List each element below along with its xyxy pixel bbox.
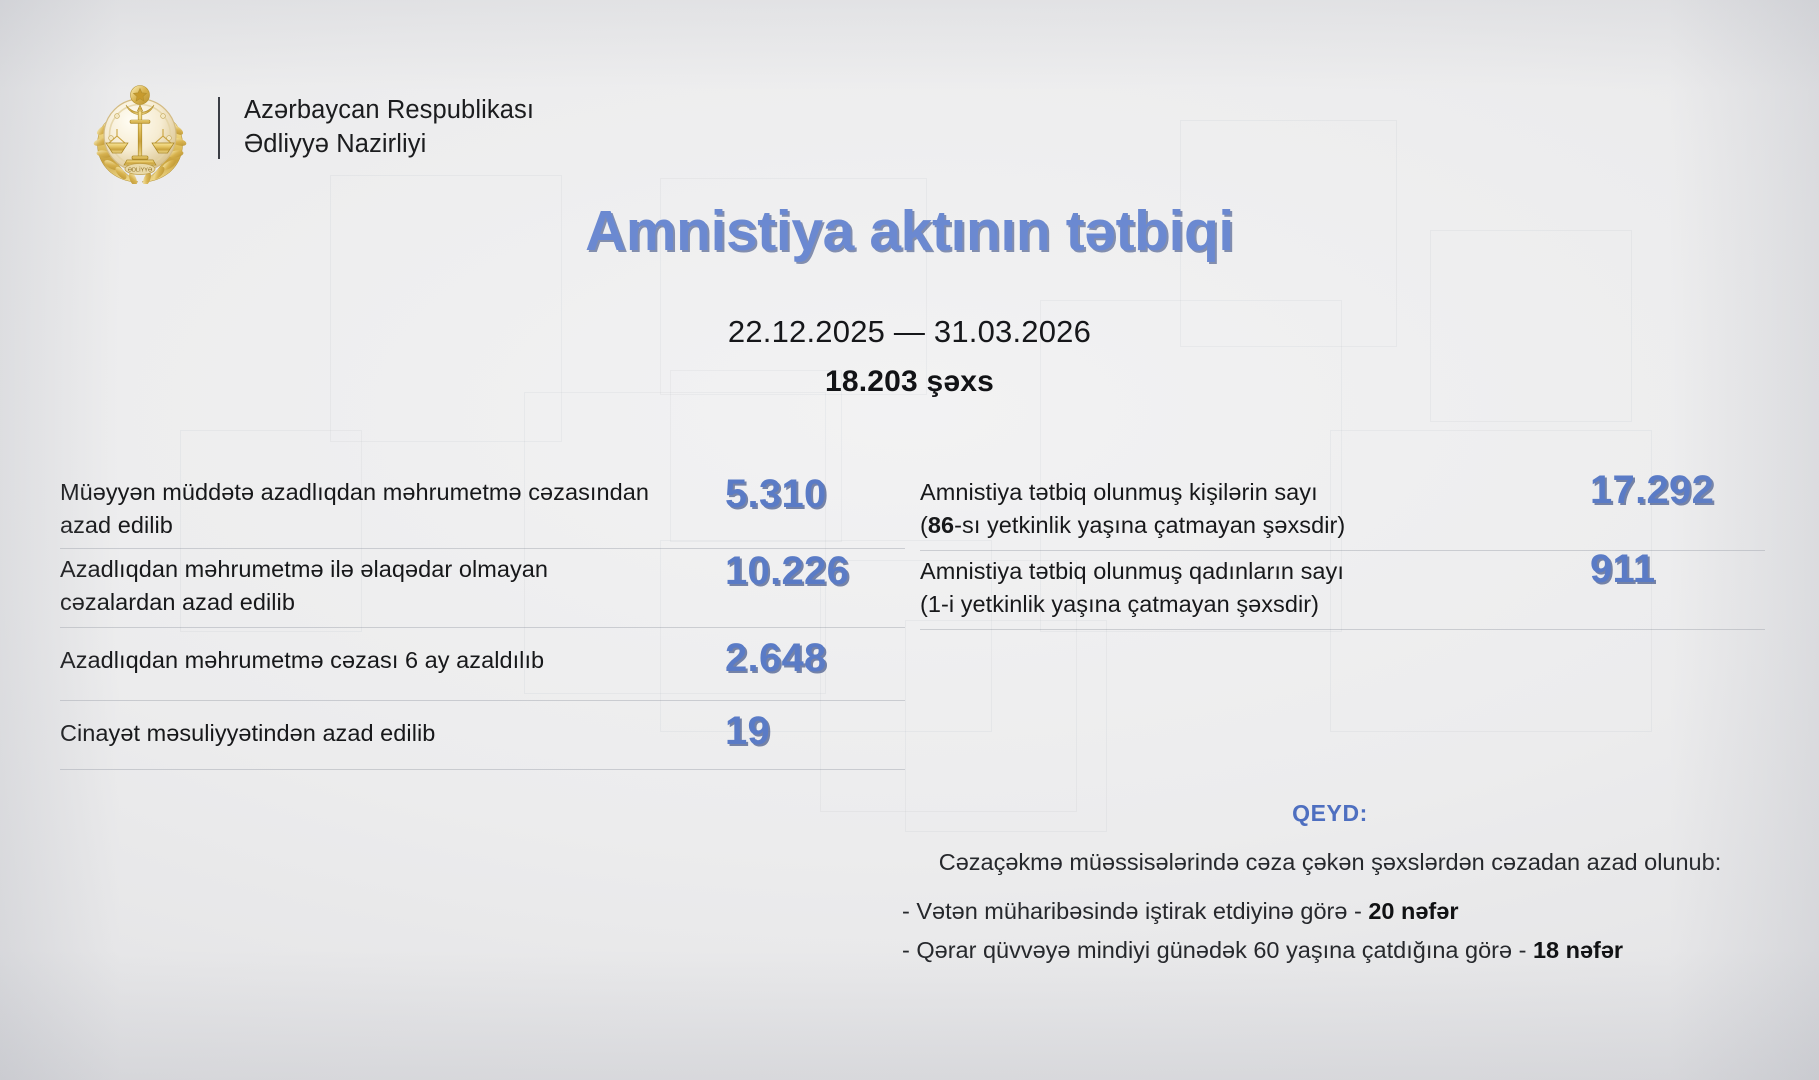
svg-text:ƏDLİYYƏ: ƏDLİYYƏ <box>128 167 152 174</box>
organization-name: Azərbaycan Respublikası Ədliyyə Nazirliy… <box>244 94 534 162</box>
note-line-text: - Vətən müharibəsində iştirak etdiyinə g… <box>902 898 1368 924</box>
table-row: Azadlıqdan məhrumetmə cəzası 6 ay azaldı… <box>60 628 905 701</box>
note-line: - Vətən müharibəsində iştirak etdiyinə g… <box>902 898 1770 925</box>
row-value: 2.648 <box>725 636 827 681</box>
right-statistics-column: Amnistiya tətbiq olunmuş kişilərin sayı … <box>920 472 1765 630</box>
row-label: Amnistiya tətbiq olunmuş qadınların sayı… <box>920 551 1520 622</box>
note-line-text: - Qərar qüvvəyə mindiyi günədək 60 yaşın… <box>902 937 1533 963</box>
total-count: 18.203 şəxs <box>0 365 1819 399</box>
row-value: 5.310 <box>725 472 827 517</box>
table-row: Azadlıqdan məhrumetmə ilə əlaqədar olmay… <box>60 549 905 628</box>
page-title: Amnistiya aktının tətbiqi <box>0 198 1819 264</box>
row-value: 10.226 <box>725 549 849 594</box>
note-block: QEYD: Cəzaçəkmə müəssisələrində cəza çək… <box>890 800 1770 976</box>
row-label-line2: (1-i yetkinlik yaşına çatmayan şəxsdir) <box>920 591 1319 617</box>
row-value: 17.292 <box>1590 468 1714 513</box>
date-range: 22.12.2025 — 31.03.2026 <box>0 314 1819 350</box>
logo-divider <box>218 97 220 159</box>
row-label-line2-rest: -sı yetkinlik yaşına çatmayan şəxsdir) <box>954 512 1345 538</box>
table-row: Cinayət məsuliyyətindən azad edilib 19 <box>60 701 905 770</box>
note-line: - Qərar qüvvəyə mindiyi günədək 60 yaşın… <box>902 937 1770 964</box>
note-title: QEYD: <box>890 800 1770 827</box>
row-label-line2-rest: -i yetkinlik yaşına çatmayan şəxsdir) <box>941 591 1319 617</box>
note-line-value: 18 nəfər <box>1533 937 1623 963</box>
row-label: Azadlıqdan məhrumetmə cəzası 6 ay azaldı… <box>60 628 660 677</box>
row-value: 911 <box>1590 547 1655 592</box>
table-row: Müəyyən müddətə azadlıqdan məhrumetmə cə… <box>60 472 905 549</box>
row-label-highlight: 86 <box>928 512 954 538</box>
header: ƏDLİYYƏ Azərbaycan Respublikası Ədliyyə … <box>86 72 534 184</box>
row-label-line1: Amnistiya tətbiq olunmuş kişilərin sayı <box>920 479 1318 505</box>
note-line-value: 20 nəfər <box>1368 898 1458 924</box>
table-row: Amnistiya tətbiq olunmuş qadınların sayı… <box>920 551 1765 630</box>
infographic-root: ƏDLİYYƏ Azərbaycan Respublikası Ədliyyə … <box>0 0 1819 1080</box>
row-label-line1: Amnistiya tətbiq olunmuş qadınların sayı <box>920 558 1344 584</box>
row-label: Müəyyən müddətə azadlıqdan məhrumetmə cə… <box>60 472 660 543</box>
row-label: Amnistiya tətbiq olunmuş kişilərin sayı … <box>920 472 1520 543</box>
justice-scales-emblem-icon: ƏDLİYYƏ <box>86 72 194 184</box>
row-value: 19 <box>725 709 770 754</box>
row-label: Azadlıqdan məhrumetmə ilə əlaqədar olmay… <box>60 549 660 620</box>
note-intro: Cəzaçəkmə müəssisələrində cəza çəkən şəx… <box>890 849 1770 876</box>
row-label-line2: (86-sı yetkinlik yaşına çatmayan şəxsdir… <box>920 512 1345 538</box>
row-label-highlight: 1 <box>928 591 941 617</box>
left-statistics-column: Müəyyən müddətə azadlıqdan məhrumetmə cə… <box>60 472 905 770</box>
row-label: Cinayət məsuliyyətindən azad edilib <box>60 701 660 750</box>
table-row: Amnistiya tətbiq olunmuş kişilərin sayı … <box>920 472 1765 551</box>
